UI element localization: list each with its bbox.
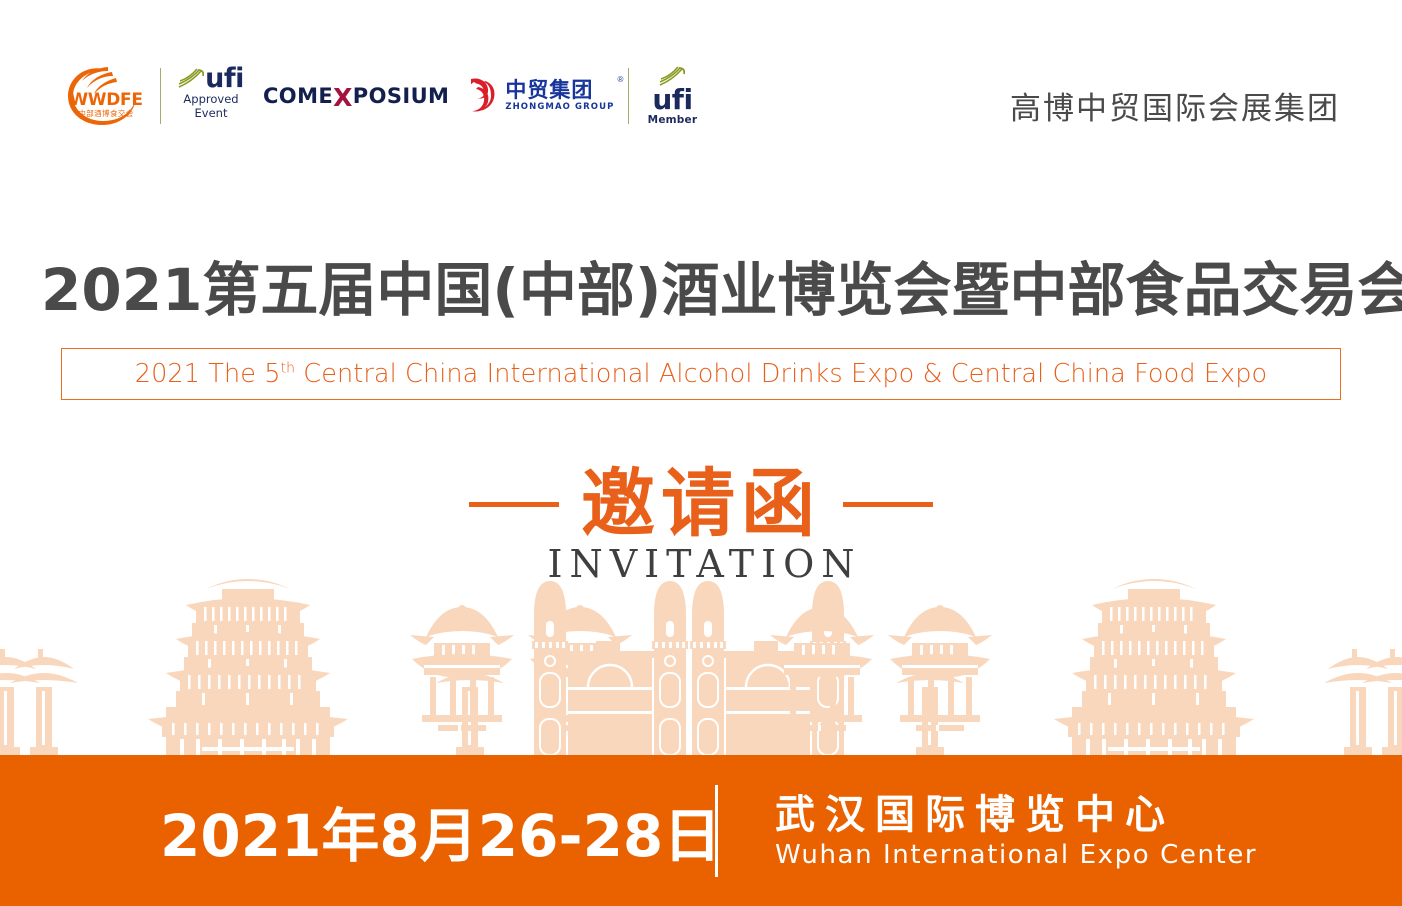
pavilion bbox=[888, 605, 992, 731]
pailou-gate bbox=[896, 649, 964, 755]
ufi-member-label: Member bbox=[643, 114, 701, 127]
pailou-gate bbox=[10, 649, 78, 755]
wwdfe-mark: WWDFE 中部酒博食交会 bbox=[60, 63, 146, 129]
comexposium-x-icon: X bbox=[333, 83, 353, 112]
ufi-approved-line2: Event bbox=[175, 107, 247, 120]
event-venue: 武汉国际博览中心 Wuhan International Expo Center bbox=[775, 791, 1257, 871]
english-subtitle-box: 2021 The 5th Central China International… bbox=[61, 348, 1341, 400]
zhongmao-dragon-icon bbox=[465, 75, 499, 117]
zhongmao-cn-name: 中贸集团 bbox=[505, 79, 614, 102]
invitation-title-english: INVITATION bbox=[540, 542, 861, 586]
pavilion bbox=[770, 605, 874, 731]
partner-logo-bar: WWDFE 中部酒博食交会 ufi Approved bbox=[60, 58, 701, 134]
pavilion bbox=[410, 605, 514, 731]
invitation-rule-left bbox=[469, 502, 559, 507]
svg-text:WWDFE: WWDFE bbox=[69, 90, 142, 110]
svg-text:中部酒博食交会: 中部酒博食交会 bbox=[78, 108, 133, 118]
custom-house-building bbox=[532, 581, 846, 755]
pailou-gate bbox=[0, 649, 40, 755]
zhongmao-group-logo: 中贸集团 ZHONGMAO GROUP ® bbox=[465, 58, 614, 134]
pailou-gate bbox=[1324, 649, 1392, 755]
pailou-gate bbox=[436, 649, 504, 755]
invitation-rule-right bbox=[843, 502, 933, 507]
event-date: 2021年8月26-28日 bbox=[160, 789, 721, 873]
registered-mark-icon: ® bbox=[618, 75, 624, 84]
comexposium-part2: POSIUM bbox=[353, 84, 450, 108]
ufi-approved-event-logo: ufi Approved Event bbox=[175, 58, 247, 134]
main-title-chinese: 2021第五届中国(中部)酒业博览会暨中部食品交易会 bbox=[41, 243, 1361, 327]
subtitle-suffix: Central China International Alcohol Drin… bbox=[295, 359, 1267, 389]
english-subtitle-text: 2021 The 5th Central China International… bbox=[135, 359, 1267, 389]
logo-divider bbox=[628, 68, 629, 124]
pavilion bbox=[528, 605, 632, 731]
comexposium-part1: COME bbox=[263, 84, 333, 108]
pailou-gate bbox=[1362, 649, 1402, 755]
invitation-title-chinese: 邀请函 bbox=[581, 462, 821, 546]
ufi-wordmark: ufi bbox=[643, 86, 701, 113]
wwdfe-logo: WWDFE 中部酒博食交会 bbox=[60, 58, 146, 134]
ufi-swoosh-icon bbox=[178, 68, 204, 92]
ufi-wordmark: ufi bbox=[205, 66, 244, 92]
footer-band: 2021年8月26-28日 武汉国际博览中心 Wuhan Internation… bbox=[0, 755, 1402, 906]
ordinal-suffix: th bbox=[281, 361, 296, 377]
venue-name-chinese: 武汉国际博览中心 bbox=[775, 791, 1257, 839]
logo-divider bbox=[160, 68, 161, 124]
pagoda-tower bbox=[148, 579, 348, 755]
pagoda-tower bbox=[1054, 579, 1254, 755]
venue-name-english: Wuhan International Expo Center bbox=[775, 839, 1257, 871]
invitation-poster: WWDFE 中部酒博食交会 ufi Approved bbox=[0, 0, 1402, 906]
organizer-company-name: 高博中贸国际会展集团 bbox=[1010, 83, 1340, 128]
subtitle-prefix: 2021 The 5 bbox=[135, 359, 281, 389]
footer-divider bbox=[715, 785, 718, 877]
zhongmao-en-name: ZHONGMAO GROUP bbox=[505, 102, 614, 113]
wuhan-skyline-illustration bbox=[0, 575, 1402, 755]
ufi-member-logo: ufi Member bbox=[643, 58, 701, 134]
invitation-block: 邀请函 INVITATION bbox=[0, 462, 1402, 586]
ufi-approved-line1: Approved bbox=[175, 93, 247, 106]
comexposium-logo: COMEXPOSIUM bbox=[263, 58, 449, 134]
